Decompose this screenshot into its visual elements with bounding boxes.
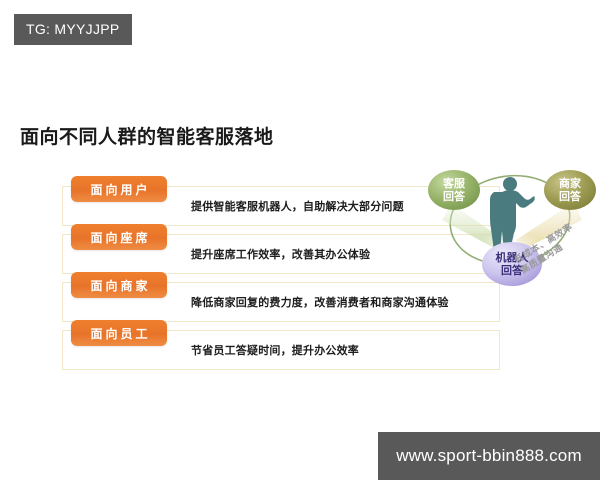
page-title: 面向不同人群的智能客服落地 (20, 122, 274, 149)
row-pill-label: 面向商家 (71, 272, 167, 298)
row-description: 提升座席工作效率，改善其办公体验 (191, 246, 370, 262)
row-description: 节省员工答疑时间，提升办公效率 (191, 342, 359, 358)
row-pill-label: 面向座席 (71, 224, 167, 250)
bubble-customer-service-line2: 回答 (443, 189, 466, 203)
bubble-customer-service: 客服 回答 (428, 170, 480, 210)
row-description: 提供智能客服机器人，自助解决大部分问题 (191, 198, 404, 214)
row-description: 降低商家回复的费力度，改善消费者和商家沟通体验 (191, 294, 449, 310)
bubble-merchant: 商家 回答 (544, 170, 596, 210)
bubble-merchant-line1: 商家 (559, 176, 582, 190)
table-row: 面向员工 节省员工答疑时间，提升办公效率 (62, 330, 500, 370)
bubble-customer-service-line1: 客服 (442, 176, 466, 190)
row-pill-label: 面向用户 (71, 176, 167, 202)
watermark-url: www.sport-bbin888.com (378, 432, 600, 480)
row-pill-label: 面向员工 (71, 320, 167, 346)
bubble-merchant-line2: 回答 (559, 189, 582, 203)
tg-badge: TG: MYYJJPP (14, 14, 132, 45)
